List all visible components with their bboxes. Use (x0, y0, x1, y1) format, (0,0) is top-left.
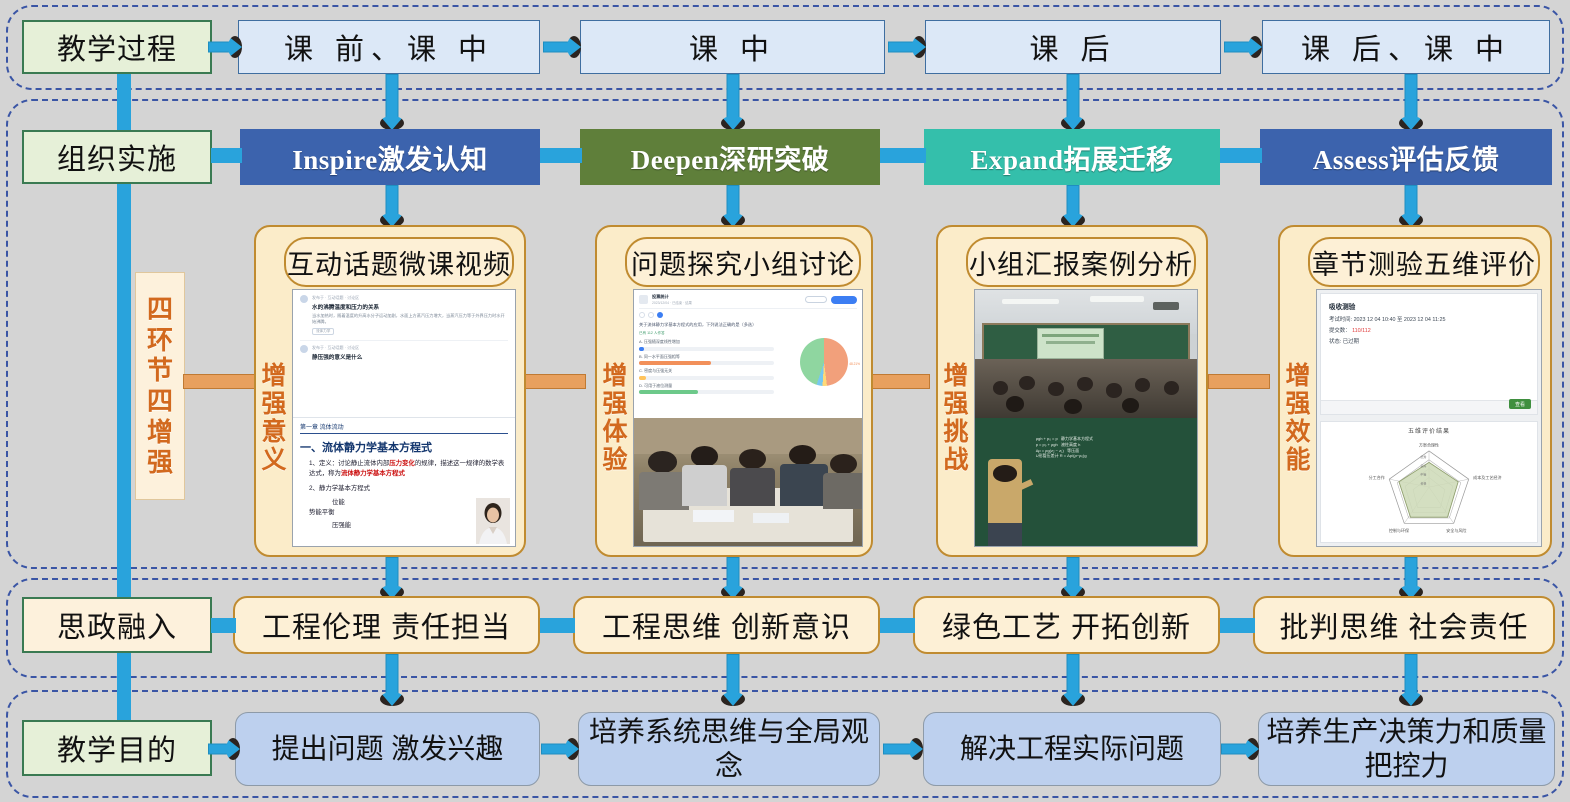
thread-meta-1: 发布于 · 互动话题 · 讨论区 (312, 295, 508, 301)
activity-card-3[interactable]: 小组汇报案例分析 增 强 挑 战 (936, 225, 1208, 557)
connector-org-label-to-inspire (211, 148, 242, 163)
slide-chapter: 第一章 流体流动 (300, 422, 508, 434)
orange-connector-1 (183, 374, 258, 389)
stage-inspire[interactable]: Inspire激发认知 (240, 129, 540, 185)
process-step-2-text: 课 中 (689, 26, 776, 68)
classroom-presentation-photo (975, 290, 1197, 418)
thread-title-2: 静压强的意义是什么 (312, 353, 508, 361)
avatar (300, 345, 308, 353)
activity-card-2-vlabel: 增 强 体 验 (601, 293, 629, 543)
exam-time-row: 考试时间: 2023 12 04 10:40 至 2023 12 04 11:2… (1329, 315, 1529, 323)
exam-card-footer (1321, 400, 1537, 414)
side-label-char-3: 节 (147, 355, 173, 386)
arrow-goal-2-to-3 (883, 738, 923, 760)
connector-inspire-deepen (540, 148, 582, 163)
slide-heading: 一、流体静力学基本方程式 (300, 439, 508, 455)
side-label-char-2: 环 (147, 325, 173, 356)
svg-text:中等: 中等 (1420, 472, 1426, 477)
goal-item-3[interactable]: 解决工程实际问题 (923, 712, 1221, 786)
arrow-process-1-to-2 (543, 36, 581, 58)
arrow-down-card4 (1398, 557, 1424, 599)
poll-secondary-button[interactable] (805, 296, 827, 303)
activity-card-4[interactable]: 章节测验五维评价 增 强 效 能 吸收测验 考试时间: 2023 12 04 1… (1278, 225, 1552, 557)
poll-pie-chart (800, 338, 848, 386)
stage-expand-text: Expand拓展迁移 (970, 138, 1173, 177)
arrow-down-card1 (379, 557, 405, 599)
side-label-char-4: 四 (147, 386, 173, 417)
process-step-2[interactable]: 课 中 (580, 20, 885, 74)
svg-text:合格: 合格 (1420, 480, 1426, 485)
label-ideology: 思政融入 (22, 597, 212, 653)
svg-text:优秀: 优秀 (1420, 454, 1426, 459)
stage-deepen[interactable]: Deepen深研突破 (580, 129, 880, 185)
ideology-item-2[interactable]: 工程思维 创新意识 (573, 596, 880, 654)
radar-chart-title: 五维评价结果 (1321, 422, 1537, 435)
label-organization-text: 组织实施 (57, 136, 177, 178)
svg-text:控制与环保: 控制与环保 (1389, 527, 1409, 533)
stage-assess[interactable]: Assess评估反馈 (1260, 129, 1552, 185)
side-label-four-links: 四 环 节 四 增 强 (135, 272, 185, 500)
orange-connector-3 (866, 374, 930, 389)
arrow-process-label-to-1 (208, 36, 242, 58)
poll-primary-button[interactable] (831, 296, 857, 304)
goal-item-1[interactable]: 提出问题 激发兴趣 (235, 712, 540, 786)
arrow-goal-label-to-1 (208, 738, 240, 760)
goal-item-2[interactable]: 培养系统思维与全局观念 (578, 712, 880, 786)
svg-text:方案合理性: 方案合理性 (1419, 441, 1439, 447)
poll-count: 已有 112 人作答 (639, 331, 857, 336)
svg-text:成本及工艺经济: 成本及工艺经济 (1473, 474, 1501, 480)
slide-bullet-1: 1、定义：讨论静止流体内部压力变化的规律，描述这一规律的数学表达式，称为流体静力… (309, 459, 508, 478)
arrow-down-ideo3 (1060, 654, 1086, 706)
arrow-down-ideo2 (720, 654, 746, 706)
connector-ideo-1-2 (540, 618, 575, 633)
radar-chart: 方案合理性 成本及工艺经济 安全与风险 控制与环保 分工合作 优秀 良好 中等 … (1321, 435, 1537, 541)
exam-title: 吸收测验 (1329, 301, 1529, 311)
ideology-item-4[interactable]: 批判思维 社会责任 (1253, 596, 1555, 654)
side-label-char-1: 四 (147, 294, 173, 325)
thread-body-1: 当水加热时，随着温度的升高水分子运动加剧，水面上方蒸汽压力增大，当蒸汽压力等于外… (312, 313, 508, 326)
exam-status-row: 状态: 已过期 (1329, 337, 1529, 345)
arrow-down-stage4 (1398, 185, 1424, 227)
connector-deepen-expand (880, 148, 926, 163)
stage-inspire-text: Inspire激发认知 (292, 138, 488, 177)
svg-text:分工合作: 分工合作 (1369, 474, 1385, 480)
svg-text:安全与风险: 安全与风险 (1446, 527, 1466, 533)
activity-card-3-media: ρgh + p₀ = p 静力学基本方程式 p = p₀ + ρgh 液柱高度 … (974, 289, 1198, 547)
activity-card-2[interactable]: 问题探究小组讨论 增 强 体 验 投票统计 2023/12/04 · 已结束 ·… (595, 225, 873, 557)
stage-deepen-text: Deepen深研突破 (631, 138, 829, 177)
process-step-3-text: 课 后 (1029, 26, 1116, 68)
label-teaching-process: 教学过程 (22, 20, 212, 74)
arrow-down-stage2 (720, 185, 746, 227)
activity-card-3-vlabel: 增 强 挑 战 (942, 293, 970, 543)
label-ideology-text: 思政融入 (57, 604, 177, 646)
process-step-3[interactable]: 课 后 (925, 20, 1221, 74)
arrow-down-stage1 (379, 185, 405, 227)
chalk-text: ρgh + p₀ = p 静力学基本方程式 p = p₀ + ρgh 液柱高度 … (1033, 433, 1188, 461)
activity-card-1-media: 发布于 · 互动话题 · 讨论区 水的沸腾温度和压力的关系 当水加热时，随着温度… (292, 289, 516, 547)
app-logo-icon (639, 295, 648, 304)
exam-submit-row: 提交数： 110/112 (1329, 326, 1529, 334)
arrow-goal-3-to-4 (1221, 738, 1259, 760)
process-step-1-text: 课 前、课 中 (284, 26, 494, 68)
arrow-down-proc2 (720, 74, 746, 130)
goal-item-4[interactable]: 培养生产决策力和质量把控力 (1258, 712, 1555, 786)
arrow-down-card3 (1060, 557, 1086, 599)
stage-assess-text: Assess评估反馈 (1313, 138, 1500, 177)
process-step-4[interactable]: 课 后、课 中 (1262, 20, 1550, 74)
connector-ideo-2-3 (880, 618, 915, 633)
arrow-down-proc4 (1398, 74, 1424, 130)
slide-bullet-2: 2、静力学基本方程式 (309, 484, 508, 494)
arrow-down-proc1 (379, 74, 405, 130)
activity-card-1[interactable]: 互动话题微课视频 增 强 意 义 发布于 · 互动话题 · 讨论区 水的沸腾温度… (254, 225, 526, 557)
process-step-1[interactable]: 课 前、课 中 (238, 20, 540, 74)
connector-ideo-3-4 (1220, 618, 1255, 633)
diagram-canvas: 教学过程 课 前、课 中 课 中 课 后 课 后、课 中 组织实施 Insp (0, 0, 1570, 802)
pie-label-right: 48.21% (849, 362, 860, 366)
connector-expand-assess (1220, 148, 1262, 163)
side-label-char-5: 增 (147, 417, 173, 448)
arrow-down-ideo4 (1398, 654, 1424, 706)
label-teaching-goal-text: 教学目的 (57, 727, 177, 769)
ideology-item-3[interactable]: 绿色工艺 开拓创新 (913, 596, 1220, 654)
orange-connector-2 (524, 374, 586, 389)
arrow-goal-1-to-2 (541, 738, 579, 760)
arrow-down-stage3 (1060, 185, 1086, 227)
svg-text:良好: 良好 (1420, 463, 1426, 468)
activity-card-4-title: 章节测验五维评价 (1308, 237, 1540, 287)
side-label-char-6: 强 (147, 447, 173, 478)
poll-question: 关于流体静力学基本方程式的应用，下列说法正确的是（多选） (639, 322, 857, 328)
arrow-process-3-to-4 (1224, 36, 1262, 58)
group-discussion-photo (634, 418, 862, 546)
activity-card-4-media: 吸收测验 考试时间: 2023 12 04 10:40 至 2023 12 04… (1316, 289, 1542, 547)
exam-view-button[interactable]: 查看 (1509, 399, 1531, 409)
arrow-process-2-to-3 (888, 36, 926, 58)
blackboard-writing-photo: ρgh + p₀ = p 静力学基本方程式 p = p₀ + ρgh 液柱高度 … (975, 418, 1197, 546)
label-organization: 组织实施 (22, 130, 212, 184)
connector-ideo-label-to-1 (211, 618, 236, 633)
activity-card-2-title: 问题探究小组讨论 (625, 237, 861, 287)
arrow-down-ideo1 (379, 654, 405, 706)
activity-card-3-title: 小组汇报案例分析 (966, 237, 1196, 287)
label-teaching-process-text: 教学过程 (57, 26, 177, 68)
thread-tag-1: 流体力学 (312, 328, 334, 335)
process-step-4-text: 课 后、课 中 (1301, 26, 1511, 68)
arrow-down-proc3 (1060, 74, 1086, 130)
arrow-down-card2 (720, 557, 746, 599)
activity-card-1-vlabel: 增 强 意 义 (260, 293, 288, 543)
stage-expand[interactable]: Expand拓展迁移 (924, 129, 1220, 185)
activity-card-1-title: 互动话题微课视频 (284, 237, 514, 287)
thread-title-1: 水的沸腾温度和压力的关系 (312, 303, 508, 311)
orange-connector-4 (1208, 374, 1270, 389)
activity-card-4-vlabel: 增 强 效 能 (1284, 293, 1312, 543)
activity-card-2-media: 投票统计 2023/12/04 · 已结束 · 结果 关于流体静力学基本方程式的… (633, 289, 863, 547)
presenter-video-icon (476, 498, 510, 544)
label-teaching-goal: 教学目的 (22, 720, 212, 776)
ideology-item-1[interactable]: 工程伦理 责任担当 (233, 596, 540, 654)
thread-meta-2: 发布于 · 互动话题 · 讨论区 (312, 345, 508, 351)
avatar (300, 295, 308, 303)
